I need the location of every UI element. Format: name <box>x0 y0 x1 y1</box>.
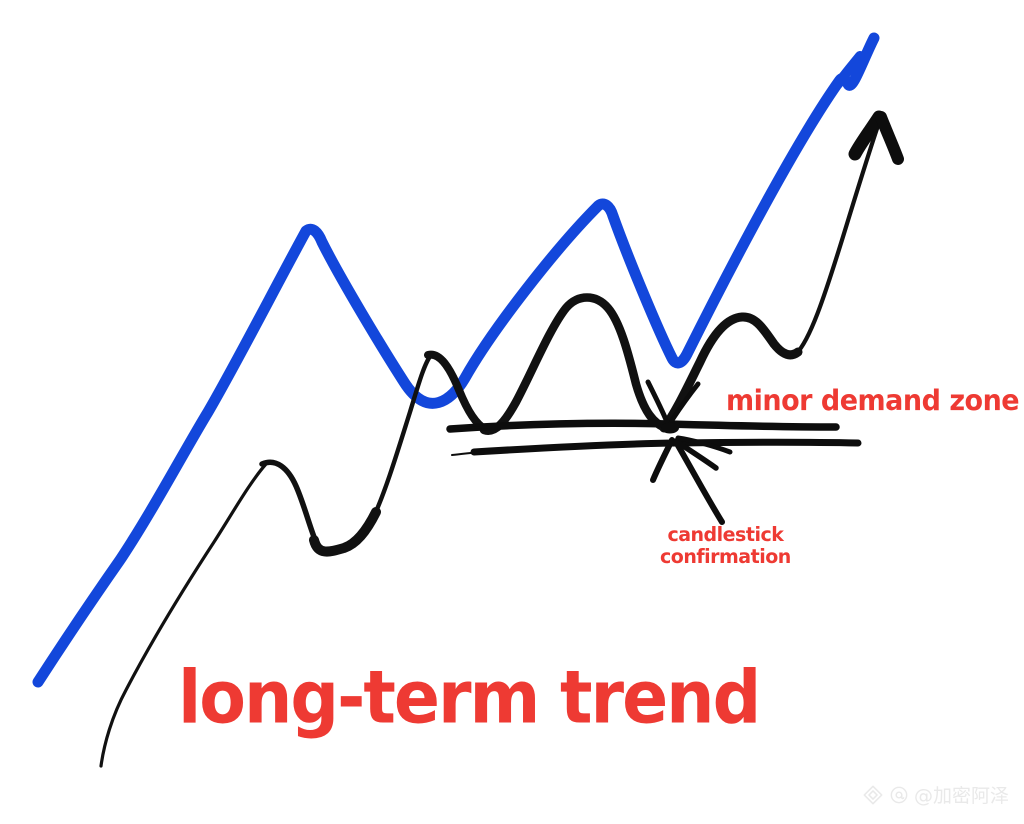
page-title: long-term trend <box>178 662 759 735</box>
confirmation-label-line-1: candlestick <box>660 524 791 546</box>
minor-demand-zone-label: minor demand zone <box>726 385 1019 418</box>
price-line-breakout <box>796 120 880 354</box>
minor-demand-zone-lines <box>448 423 858 455</box>
price-line-trough-one <box>314 512 376 552</box>
price-line-peak-one <box>262 462 316 542</box>
diamond-logo-icon <box>862 784 884 806</box>
arrowhead-right-barb <box>881 117 898 159</box>
demand-zone-upper-line <box>450 423 836 429</box>
watermark-handle: @加密阿泽 <box>914 781 1009 808</box>
confirmation-label-line-2: confirmation <box>660 546 791 568</box>
candlestick-confirmation-marker <box>648 382 730 522</box>
confirmation-ink-blob <box>661 423 679 434</box>
watermark: @加密阿泽 <box>862 781 1009 808</box>
blue-trendline-group <box>38 38 874 682</box>
trend-arrowhead-icon <box>855 117 898 159</box>
blue-trendline-path <box>38 38 874 682</box>
diagram-canvas: long-term trend minor demand zone candle… <box>0 0 1024 824</box>
candlestick-confirmation-label: candlestick confirmation <box>660 524 791 567</box>
at-sign-icon <box>889 785 909 805</box>
